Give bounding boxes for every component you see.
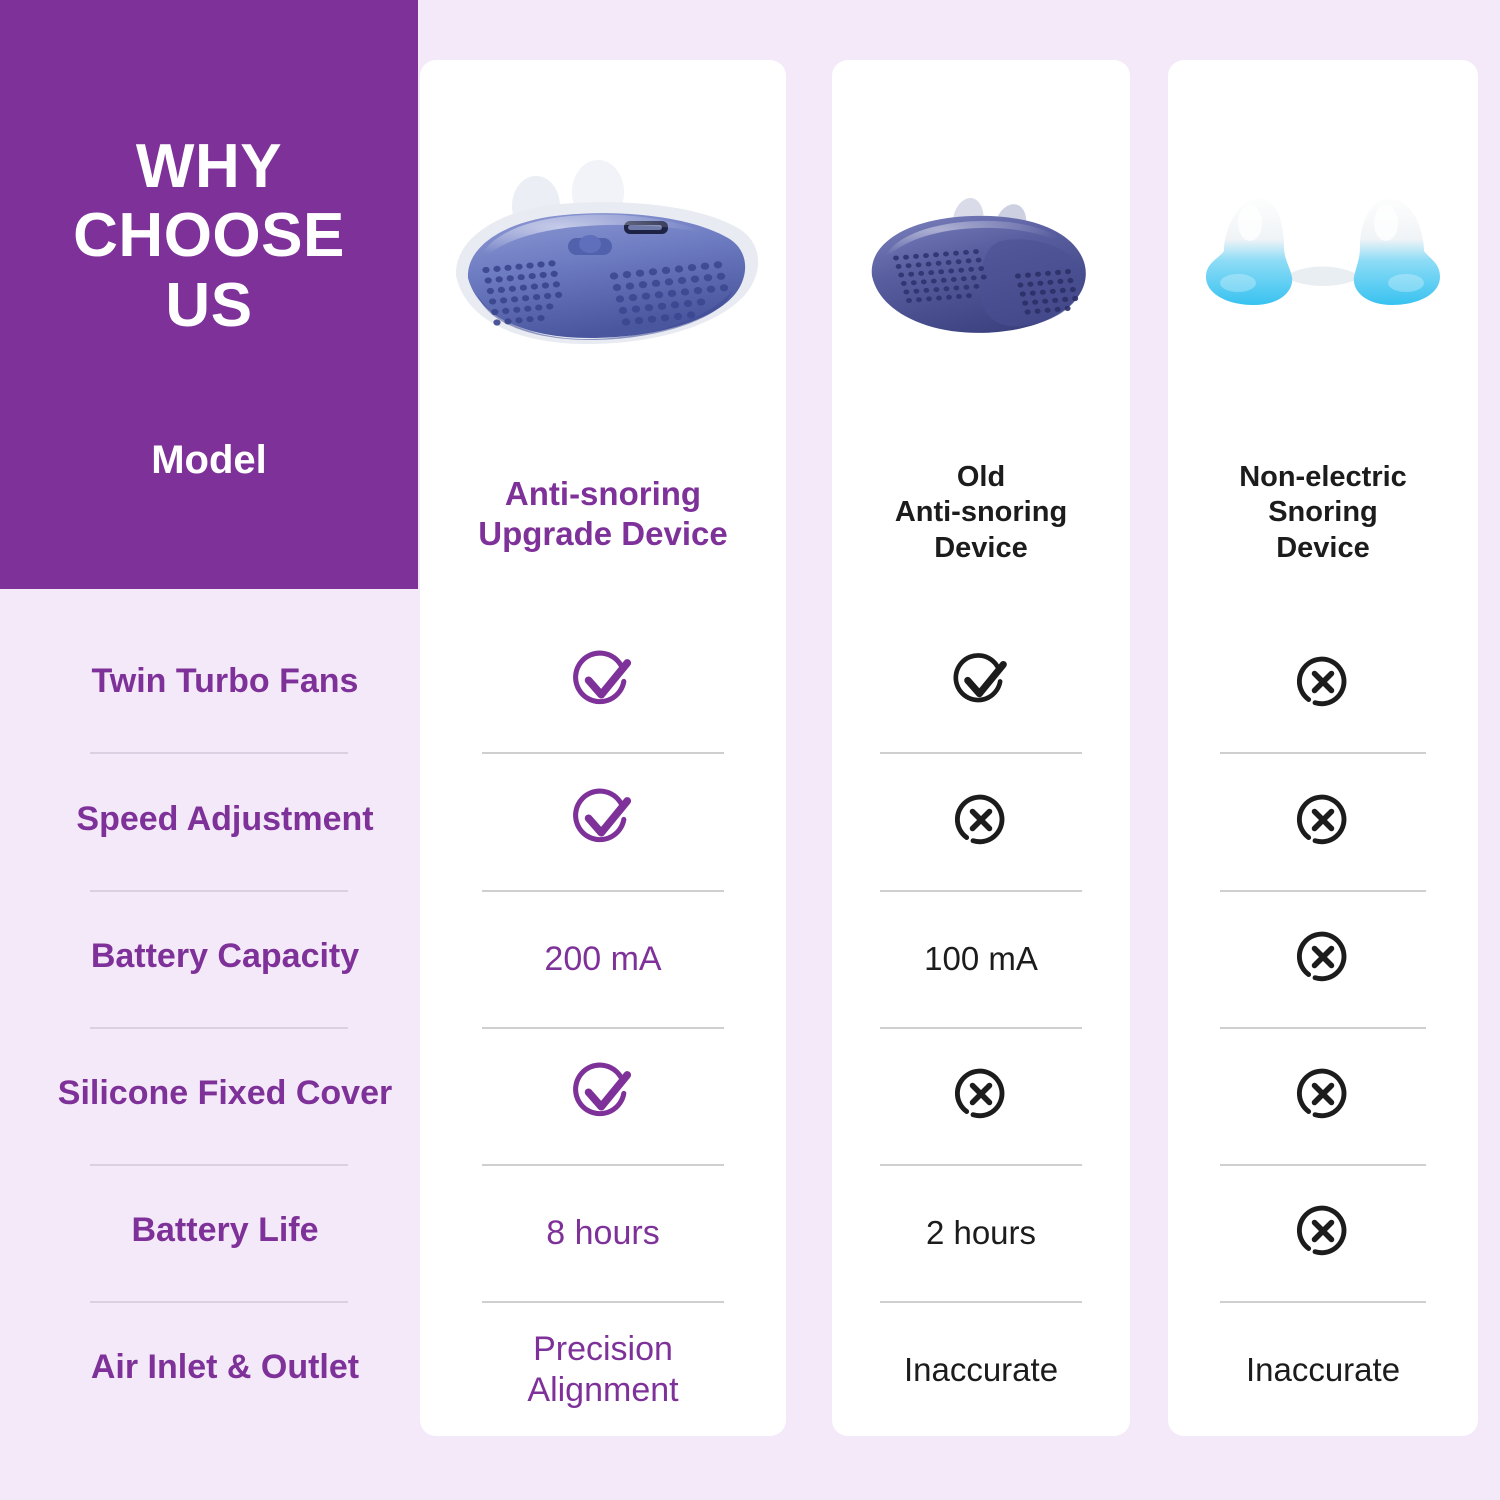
cell-text-line: Precision	[527, 1329, 678, 1370]
anti-snoring-upgrade-device-photo	[420, 148, 786, 383]
page-title-line-3: US	[0, 271, 418, 340]
old-device-illustration	[856, 180, 1106, 360]
cell-c2-r4	[1168, 1183, 1478, 1283]
cross-circle-icon	[947, 1060, 1015, 1128]
cell-c1-r2: 100 mA	[832, 909, 1130, 1009]
product-title-nonelectric-line-1: Non-electric	[1168, 460, 1478, 495]
cell-c2-r1	[1168, 772, 1478, 872]
cell-divider-c2-1	[1220, 890, 1426, 892]
check-circle-icon	[947, 648, 1015, 721]
cross-circle-icon	[1289, 786, 1357, 859]
product-column-upgrade[interactable]: Anti-snoring Upgrade Device 200 mA8 hour…	[420, 60, 786, 1436]
cell-text-line: Alignment	[527, 1370, 678, 1411]
card-header-nonelectric: Non-electric Snoring Device	[1168, 60, 1478, 589]
feature-divider-3	[90, 1164, 348, 1166]
cell-c0-r3	[420, 1046, 786, 1146]
cell-value-text: Inaccurate	[904, 1350, 1058, 1390]
upgrade-device-illustration	[438, 148, 768, 383]
feature-label-4: Battery Life	[30, 1211, 420, 1250]
check-circle-icon	[947, 648, 1015, 716]
product-title-old-line-2: Anti-snoring	[832, 495, 1130, 530]
page-title-line-2: CHOOSE	[0, 201, 418, 270]
feature-divider-4	[90, 1301, 348, 1303]
feature-label-0: Twin Turbo Fans	[30, 662, 420, 701]
feature-label-5: Air Inlet & Outlet	[30, 1348, 420, 1387]
cell-text-line: 100 mA	[924, 939, 1038, 979]
cross-circle-icon	[1289, 786, 1357, 854]
cell-text-line: Inaccurate	[1246, 1350, 1400, 1390]
feature-divider-2	[90, 1027, 348, 1029]
cell-divider-c1-0	[880, 752, 1082, 754]
check-circle-icon	[566, 645, 640, 724]
cross-circle-icon	[1289, 1197, 1357, 1265]
cell-text-line: 200 mA	[544, 939, 661, 980]
cell-divider-c0-1	[482, 890, 724, 892]
product-title-upgrade-line-1: Anti-snoring	[420, 474, 786, 514]
cell-c0-r1	[420, 772, 786, 872]
check-circle-icon	[566, 645, 640, 719]
feature-divider-1	[90, 890, 348, 892]
check-circle-icon	[566, 783, 640, 862]
cell-c2-r2	[1168, 909, 1478, 1009]
cell-value-text: 200 mA	[544, 939, 661, 980]
cell-value-text: 100 mA	[924, 939, 1038, 979]
cell-text-line: 8 hours	[546, 1213, 659, 1254]
check-circle-icon	[566, 783, 640, 857]
cell-c2-r0	[1168, 634, 1478, 734]
product-title-nonelectric-line-2: Snoring	[1168, 495, 1478, 530]
non-electric-snoring-device-photo	[1168, 185, 1478, 330]
product-column-old[interactable]: Old Anti-snoring Device 100 mA2 hoursIna…	[832, 60, 1130, 1436]
cell-c0-r4: 8 hours	[420, 1183, 786, 1283]
cross-circle-icon	[1289, 923, 1357, 996]
cross-circle-icon	[1289, 648, 1357, 721]
cell-value-text: PrecisionAlignment	[527, 1329, 678, 1411]
cell-c2-r3	[1168, 1046, 1478, 1146]
cell-divider-c0-2	[482, 1027, 724, 1029]
card-header-upgrade: Anti-snoring Upgrade Device	[420, 60, 786, 589]
cross-circle-icon	[947, 1060, 1015, 1133]
cell-divider-c0-4	[482, 1301, 724, 1303]
comparison-infographic: WHY CHOOSE US Model Twin Turbo FansSpeed…	[0, 0, 1500, 1500]
cell-value-text: 8 hours	[546, 1213, 659, 1254]
cell-divider-c1-2	[880, 1027, 1082, 1029]
product-title-upgrade: Anti-snoring Upgrade Device	[420, 474, 786, 555]
cross-circle-icon	[1289, 1060, 1357, 1133]
cell-text-line: Inaccurate	[904, 1350, 1058, 1390]
feature-divider-0	[90, 752, 348, 754]
cell-c0-r2: 200 mA	[420, 909, 786, 1009]
product-column-nonelectric[interactable]: Non-electric Snoring Device Inaccurate	[1168, 60, 1478, 1436]
page-title: WHY CHOOSE US	[0, 132, 418, 340]
cross-circle-icon	[1289, 648, 1357, 716]
product-title-old-line-3: Device	[832, 531, 1130, 566]
feature-label-3: Silicone Fixed Cover	[30, 1074, 420, 1113]
product-title-nonelectric-line-3: Device	[1168, 531, 1478, 566]
model-row-header: Model	[0, 438, 418, 483]
cell-c2-r5: Inaccurate	[1168, 1320, 1478, 1420]
cross-circle-icon	[947, 786, 1015, 859]
page-title-line-1: WHY	[0, 132, 418, 201]
cell-c0-r0	[420, 634, 786, 734]
cell-divider-c2-4	[1220, 1301, 1426, 1303]
cell-value-text: 2 hours	[926, 1213, 1036, 1253]
cell-c1-r1	[832, 772, 1130, 872]
cell-divider-c1-1	[880, 890, 1082, 892]
cell-c1-r5: Inaccurate	[832, 1320, 1130, 1420]
cell-text-line: 2 hours	[926, 1213, 1036, 1253]
cell-value-text: Inaccurate	[1246, 1350, 1400, 1390]
card-header-old: Old Anti-snoring Device	[832, 60, 1130, 589]
cell-c1-r0	[832, 634, 1130, 734]
cell-c1-r3	[832, 1046, 1130, 1146]
cell-divider-c1-4	[880, 1301, 1082, 1303]
feature-label-2: Battery Capacity	[30, 937, 420, 976]
cross-circle-icon	[1289, 923, 1357, 991]
cell-c0-r5: PrecisionAlignment	[420, 1320, 786, 1420]
product-title-old: Old Anti-snoring Device	[832, 460, 1130, 566]
cell-c1-r4: 2 hours	[832, 1183, 1130, 1283]
old-anti-snoring-device-photo	[832, 180, 1130, 360]
product-title-old-line-1: Old	[832, 460, 1130, 495]
feature-label-1: Speed Adjustment	[30, 800, 420, 839]
cell-divider-c2-0	[1220, 752, 1426, 754]
cross-circle-icon	[947, 786, 1015, 854]
cross-circle-icon	[1289, 1060, 1357, 1128]
product-title-upgrade-line-2: Upgrade Device	[420, 514, 786, 554]
product-title-nonelectric: Non-electric Snoring Device	[1168, 460, 1478, 566]
cell-divider-c1-3	[880, 1164, 1082, 1166]
cross-circle-icon	[1289, 1197, 1357, 1270]
cell-divider-c0-3	[482, 1164, 724, 1166]
cell-divider-c2-2	[1220, 1027, 1426, 1029]
nasal-dilator-illustration	[1188, 185, 1458, 330]
cell-divider-c2-3	[1220, 1164, 1426, 1166]
cell-divider-c0-0	[482, 752, 724, 754]
check-circle-icon	[566, 1057, 640, 1136]
check-circle-icon	[566, 1057, 640, 1131]
